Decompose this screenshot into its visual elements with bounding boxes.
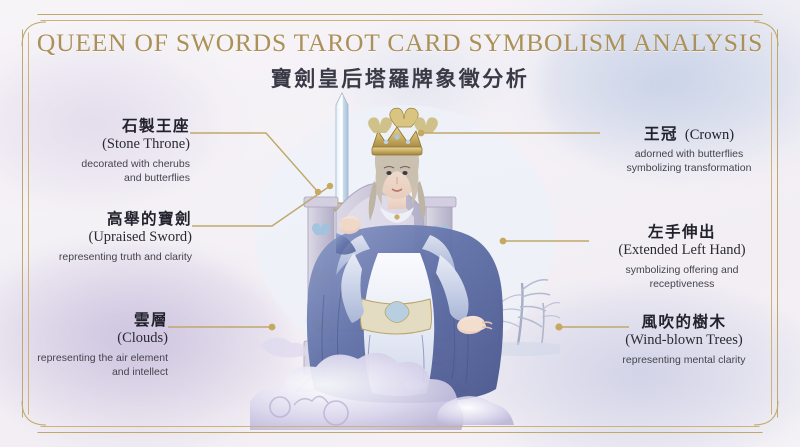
label-crown-heading: 王冠 (Crown) bbox=[604, 122, 774, 144]
label-extended-left-hand-desc: symbolizing offering and receptiveness bbox=[592, 263, 772, 291]
label-clouds: 雲層 (Clouds) representing the air element… bbox=[22, 310, 168, 380]
page-title-chinese: 寶劍皇后塔羅牌象徵分析 bbox=[0, 63, 800, 93]
label-upraised-sword-desc: representing truth and clarity bbox=[30, 250, 192, 264]
label-stone-throne-desc-line1: decorated with cherubs bbox=[81, 158, 190, 170]
label-extended-left-hand-desc-line2: receptiveness bbox=[650, 278, 715, 290]
label-wind-blown-trees-desc: representing mental clarity bbox=[596, 353, 772, 367]
label-stone-throne-desc-line2: and butterflies bbox=[124, 172, 190, 184]
label-clouds-desc: representing the air element and intelle… bbox=[22, 351, 168, 379]
label-stone-throne-desc: decorated with cherubs and butterflies bbox=[40, 157, 190, 185]
corner-ornament-bottom-left bbox=[22, 401, 46, 425]
poster-canvas: QUEEN OF SWORDS TAROT CARD SYMBOLISM ANA… bbox=[0, 0, 800, 447]
label-clouds-desc-line1: representing the air element bbox=[37, 352, 168, 364]
label-clouds-desc-line2: and intellect bbox=[112, 366, 168, 378]
label-extended-left-hand-zh: 左手伸出 bbox=[592, 222, 772, 241]
label-clouds-en: (Clouds) bbox=[22, 329, 168, 348]
page-title-english: QUEEN OF SWORDS TAROT CARD SYMBOLISM ANA… bbox=[0, 28, 800, 57]
tarot-illustration bbox=[250, 85, 560, 430]
label-upraised-sword-en: (Upraised Sword) bbox=[30, 228, 192, 247]
label-crown-zh: 王冠 bbox=[644, 124, 678, 143]
label-wind-blown-trees: 風吹的樹木 (Wind-blown Trees) representing me… bbox=[596, 312, 772, 367]
title-block: QUEEN OF SWORDS TAROT CARD SYMBOLISM ANA… bbox=[0, 28, 800, 93]
label-stone-throne-zh: 石製王座 bbox=[40, 116, 190, 135]
corner-ornament-bottom-right bbox=[754, 401, 778, 425]
label-crown-en: (Crown) bbox=[685, 127, 734, 143]
label-wind-blown-trees-zh: 風吹的樹木 bbox=[596, 312, 772, 331]
label-crown-desc-line2: symbolizing transformation bbox=[627, 162, 752, 174]
label-extended-left-hand-desc-line1: symbolizing offering and bbox=[625, 264, 738, 276]
label-crown-desc: adorned with butterflies symbolizing tra… bbox=[604, 147, 774, 175]
label-wind-blown-trees-en: (Wind-blown Trees) bbox=[596, 331, 772, 350]
label-stone-throne: 石製王座 (Stone Throne) decorated with cheru… bbox=[40, 116, 190, 186]
label-extended-left-hand: 左手伸出 (Extended Left Hand) symbolizing of… bbox=[592, 222, 772, 292]
label-extended-left-hand-en: (Extended Left Hand) bbox=[592, 241, 772, 260]
label-clouds-zh: 雲層 bbox=[22, 310, 168, 329]
label-stone-throne-en: (Stone Throne) bbox=[40, 135, 190, 154]
label-upraised-sword: 高舉的寶劍 (Upraised Sword) representing trut… bbox=[30, 209, 192, 264]
label-crown-desc-line1: adorned with butterflies bbox=[635, 148, 744, 160]
label-upraised-sword-zh: 高舉的寶劍 bbox=[30, 209, 192, 228]
label-crown: 王冠 (Crown) adorned with butterflies symb… bbox=[604, 122, 774, 175]
